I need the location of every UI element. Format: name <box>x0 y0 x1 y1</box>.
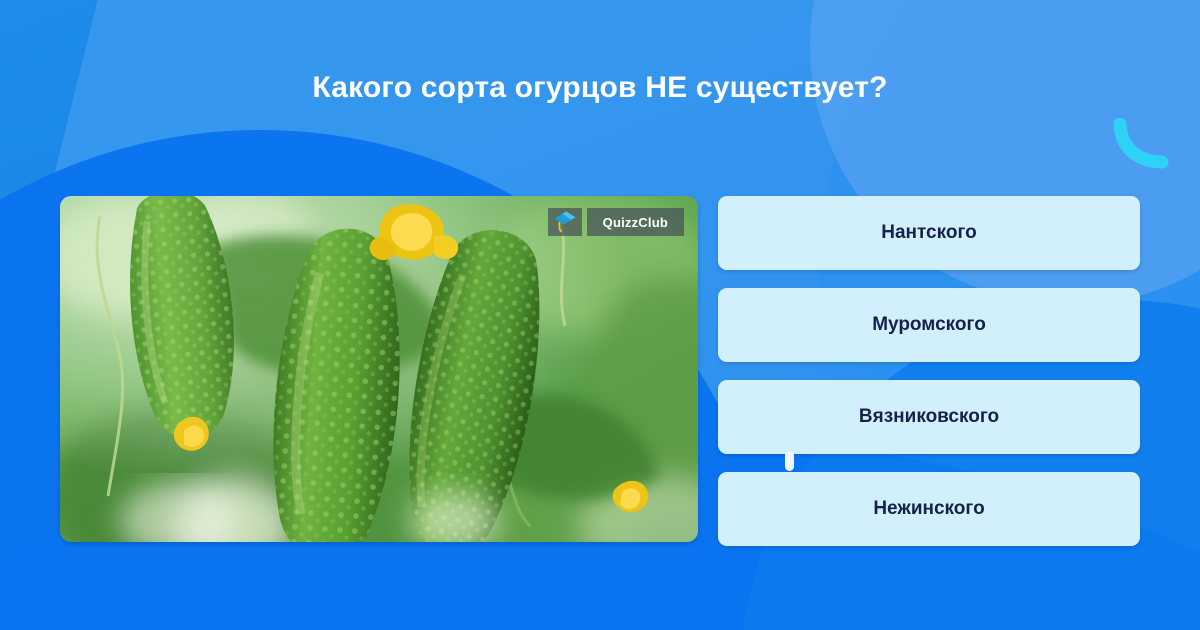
answer-options-list: Нантского Муромского Вязниковского Нежин… <box>718 196 1140 546</box>
question-title: Какого сорта огурцов НЕ существует? <box>312 71 887 105</box>
graduation-cap-icon <box>548 208 582 236</box>
answer-option-3-label: Вязниковского <box>859 406 999 428</box>
watermark-brand-label: QuizzClub <box>587 208 684 236</box>
answer-option-3[interactable]: Вязниковского <box>718 380 1140 454</box>
question-image: QuizzClub <box>60 196 698 542</box>
scroll-pill-marker[interactable] <box>785 451 794 471</box>
question-title-container: Какого сорта огурцов НЕ существует? <box>0 0 1200 175</box>
answer-option-2-label: Муромского <box>872 314 986 336</box>
answer-option-1[interactable]: Нантского <box>718 196 1140 270</box>
answer-option-1-label: Нантского <box>881 222 977 244</box>
answer-option-4-label: Нежинского <box>873 498 984 520</box>
answer-option-2[interactable]: Муромского <box>718 288 1140 362</box>
quiz-card: Какого сорта огурцов НЕ существует? <box>0 0 1200 630</box>
quizzclub-watermark: QuizzClub <box>548 208 684 236</box>
answer-option-4[interactable]: Нежинского <box>718 472 1140 546</box>
